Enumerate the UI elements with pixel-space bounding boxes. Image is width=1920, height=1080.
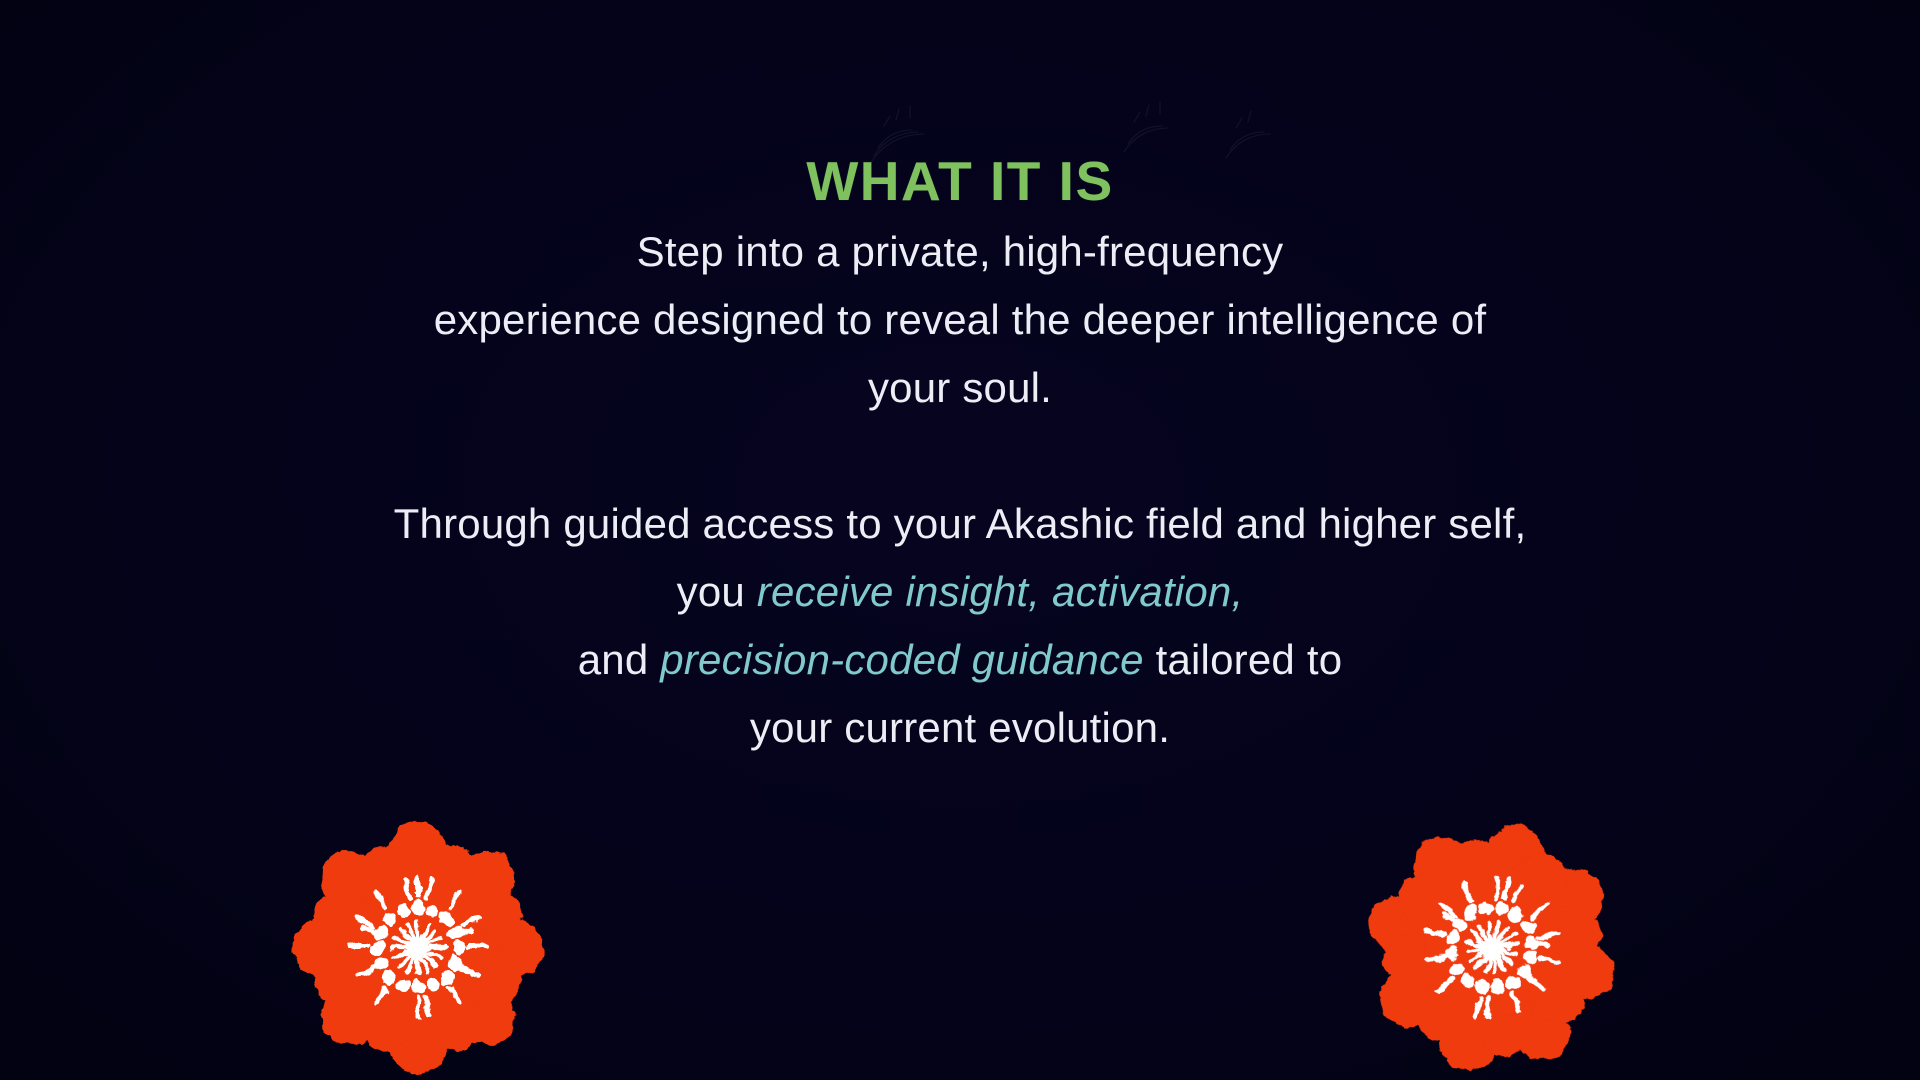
body-line-3: your soul. (0, 354, 1920, 422)
body-line-2: experience designed to reveal the deeper… (0, 286, 1920, 354)
paragraph-spacer (0, 422, 1920, 490)
body-line-6-emphasis: precision-coded guidance (660, 636, 1143, 683)
body-line-1: Step into a private, high-frequency (0, 218, 1920, 286)
body-line-5-emphasis: receive insight, activation, (757, 568, 1244, 615)
orange-flower-icon-left (288, 818, 548, 1078)
slide-canvas: WHAT IT IS Step into a private, high-fre… (0, 0, 1920, 1080)
slide-heading: WHAT IT IS (0, 149, 1920, 213)
body-line-5-plain: you (677, 568, 757, 615)
body-line-4: Through guided access to your Akashic fi… (0, 490, 1920, 558)
body-line-7: your current evolution. (0, 694, 1920, 762)
orange-flower-icon-right (1362, 818, 1622, 1078)
body-line-6-plain-lead: and (578, 636, 661, 683)
body-line-6-plain-trail: tailored to (1144, 636, 1343, 683)
slide-body-copy: Step into a private, high-frequency expe… (0, 218, 1920, 762)
body-line-5: you receive insight, activation, (0, 558, 1920, 626)
paragraph-2: Through guided access to your Akashic fi… (0, 490, 1920, 762)
body-line-6: and precision-coded guidance tailored to (0, 626, 1920, 694)
paragraph-1: Step into a private, high-frequency expe… (0, 218, 1920, 422)
